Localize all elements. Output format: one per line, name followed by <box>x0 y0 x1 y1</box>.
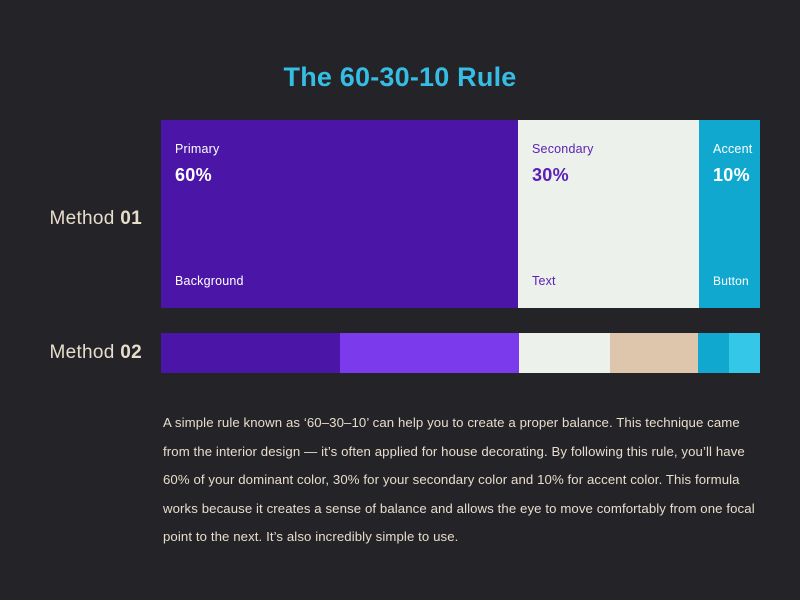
segment-secondary-percent: 30% <box>532 165 685 186</box>
description-paragraph: A simple rule known as ‘60–30–10’ can he… <box>163 409 755 552</box>
method-02-swatch-4 <box>610 333 698 373</box>
segment-primary-name: Primary <box>175 142 504 156</box>
segment-accent-name: Accent <box>713 142 746 156</box>
method-02-swatch-2 <box>340 333 519 373</box>
method-02-swatch-1 <box>161 333 340 373</box>
segment-primary-percent: 60% <box>175 165 504 186</box>
method-02-swatch-3 <box>519 333 610 373</box>
method-01-label: Method 01 <box>49 208 142 230</box>
method-02-swatch-5 <box>698 333 729 373</box>
segment-primary: Primary 60% Background <box>161 120 518 308</box>
segment-accent: Accent 10% Button <box>699 120 760 308</box>
method-02-color-bar <box>161 333 760 373</box>
segment-accent-percent: 10% <box>713 165 746 186</box>
segment-secondary-role: Text <box>532 274 556 288</box>
method-01-color-bar: Primary 60% Background Secondary 30% Tex… <box>161 120 760 308</box>
method-02-label: Method 02 <box>49 342 142 364</box>
method-01-label-word: Method <box>49 208 114 229</box>
method-01-label-number: 01 <box>120 208 142 229</box>
method-02-label-number: 02 <box>120 342 142 363</box>
segment-accent-role: Button <box>713 274 749 288</box>
segment-secondary-name: Secondary <box>532 142 685 156</box>
segment-secondary: Secondary 30% Text <box>518 120 699 308</box>
page-title: The 60-30-10 Rule <box>0 62 800 93</box>
segment-primary-role: Background <box>175 274 244 288</box>
method-02-swatch-6 <box>729 333 760 373</box>
method-02-label-word: Method <box>49 342 114 363</box>
